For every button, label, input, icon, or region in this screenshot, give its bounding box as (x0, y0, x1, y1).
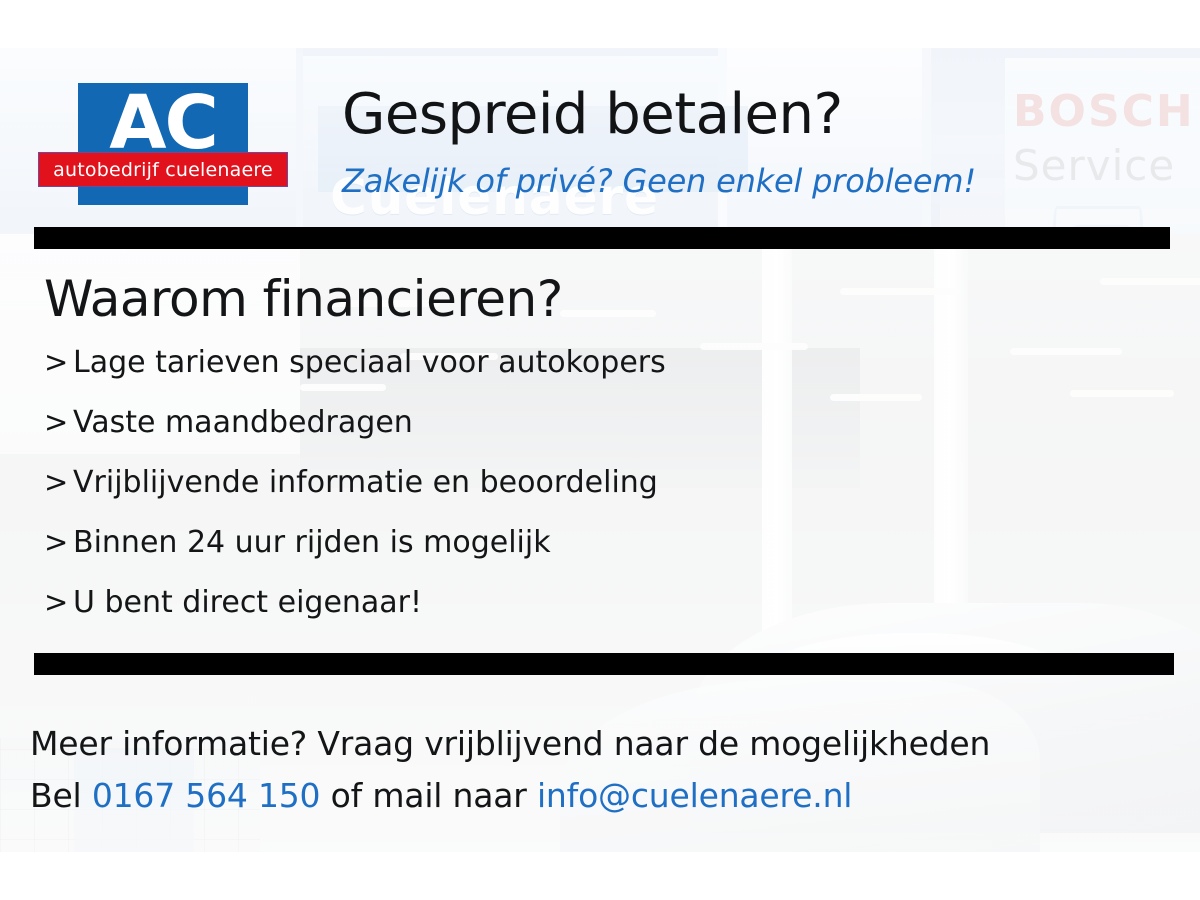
list-item-label: Binnen 24 uur rijden is mogelijk (73, 525, 551, 560)
list-item: > Binnen 24 uur rijden is mogelijk (44, 525, 944, 585)
logo-banner: autobedrijf cuelenaere (38, 152, 288, 187)
advert-banner: Cuelenaere BOSCH Service (0, 0, 1200, 900)
bottom-white-margin (0, 852, 1200, 900)
list-item-label: Lage tarieven speciaal voor autokopers (73, 345, 666, 380)
benefits-list: > Lage tarieven speciaal voor autokopers… (44, 345, 944, 645)
chevron-right-icon: > (44, 405, 73, 439)
call-prefix-label: Bel (30, 776, 92, 815)
ceiling-light-streak (1070, 390, 1174, 397)
list-item-label: U bent direct eigenaar! (73, 585, 422, 620)
chevron-right-icon: > (44, 525, 73, 559)
divider-top (34, 227, 1170, 249)
list-item-label: Vaste maandbedragen (73, 405, 413, 440)
ceiling-light-streak (840, 288, 960, 295)
page-subtitle: Zakelijk of privé? Geen enkel probleem! (342, 162, 976, 200)
contact-footer: Meer informatie? Vraag vrijblijvend naar… (30, 718, 1180, 822)
chevron-right-icon: > (44, 345, 73, 379)
mail-middle-label: of mail naar (320, 776, 537, 815)
ceiling-light-streak (1100, 278, 1200, 285)
logo-banner-label: autobedrijf cuelenaere (53, 159, 273, 181)
contact-details: Bel 0167 564 150 of mail naar info@cuele… (30, 770, 1180, 822)
chevron-right-icon: > (44, 585, 73, 619)
bosch-service-label: Service (1013, 141, 1175, 190)
list-item: > Vaste maandbedragen (44, 405, 944, 465)
email-link[interactable]: info@cuelenaere.nl (537, 776, 852, 815)
bosch-wordmark: BOSCH (1013, 86, 1195, 137)
divider-bottom (34, 653, 1174, 675)
chevron-right-icon: > (44, 465, 73, 499)
section-title: Waarom financieren? (44, 270, 563, 328)
list-item-label: Vrijblijvende informatie en beoordeling (73, 465, 658, 500)
list-item: > U bent direct eigenaar! (44, 585, 944, 645)
list-item: > Vrijblijvende informatie en beoordelin… (44, 465, 944, 525)
phone-number-link[interactable]: 0167 564 150 (92, 776, 321, 815)
ceiling-light-streak (1010, 348, 1122, 355)
ceiling-light-streak (560, 310, 656, 317)
list-item: > Lage tarieven speciaal voor autokopers (44, 345, 944, 405)
contact-prompt: Meer informatie? Vraag vrijblijvend naar… (30, 718, 1180, 770)
page-title: Gespreid betalen? (342, 82, 843, 147)
top-white-margin (0, 0, 1200, 48)
background-mullion-1 (296, 48, 303, 234)
